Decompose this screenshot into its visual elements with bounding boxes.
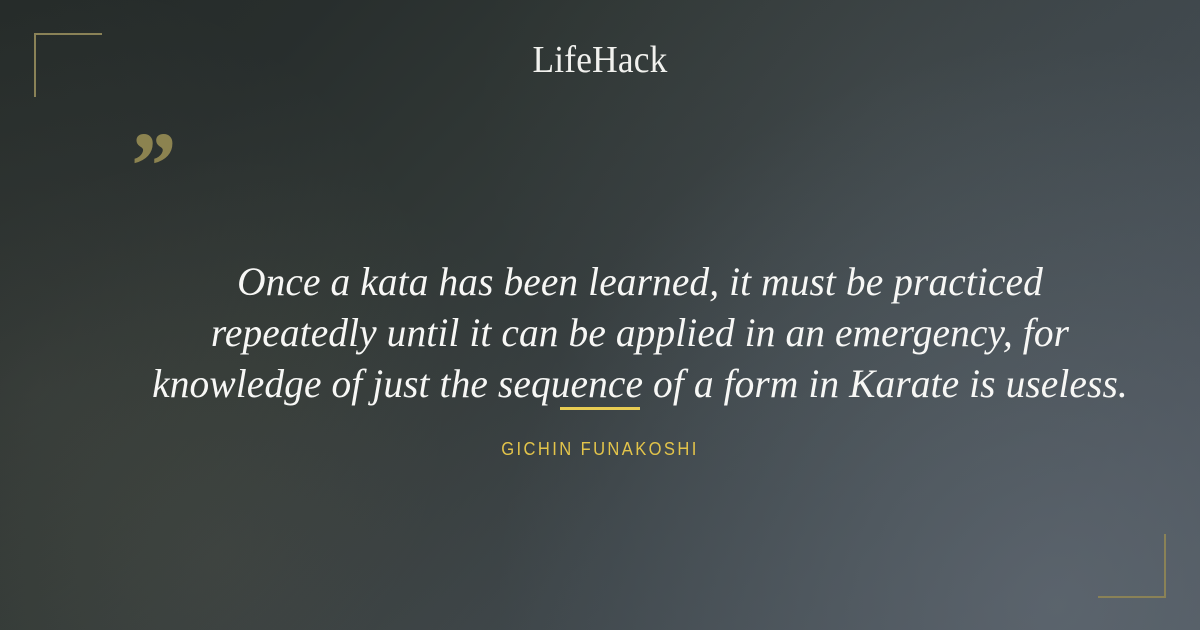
quote-line: Once a kata has been learned, it must be… bbox=[108, 256, 1172, 307]
corner-bracket-bottom-right-horizontal bbox=[1098, 596, 1166, 598]
gold-divider bbox=[560, 407, 640, 410]
quote-card: LifeHack ” Once a kata has been learned,… bbox=[0, 0, 1200, 630]
quote-line: knowledge of just the sequence of a form… bbox=[108, 358, 1172, 409]
corner-bracket-top-left-vertical bbox=[34, 33, 36, 97]
corner-bracket-bottom-right-icon bbox=[1098, 534, 1166, 598]
brand-logo[interactable]: LifeHack bbox=[42, 40, 1158, 80]
quote-line: repeatedly until it can be applied in an… bbox=[108, 307, 1172, 358]
corner-bracket-top-left-horizontal bbox=[34, 33, 102, 35]
quotation-mark-icon: ” bbox=[126, 118, 174, 214]
quote-text: Once a kata has been learned, it must be… bbox=[108, 256, 1172, 409]
corner-bracket-bottom-right-vertical bbox=[1164, 534, 1166, 598]
quote-author: GICHIN FUNAKOSHI bbox=[48, 438, 1152, 460]
